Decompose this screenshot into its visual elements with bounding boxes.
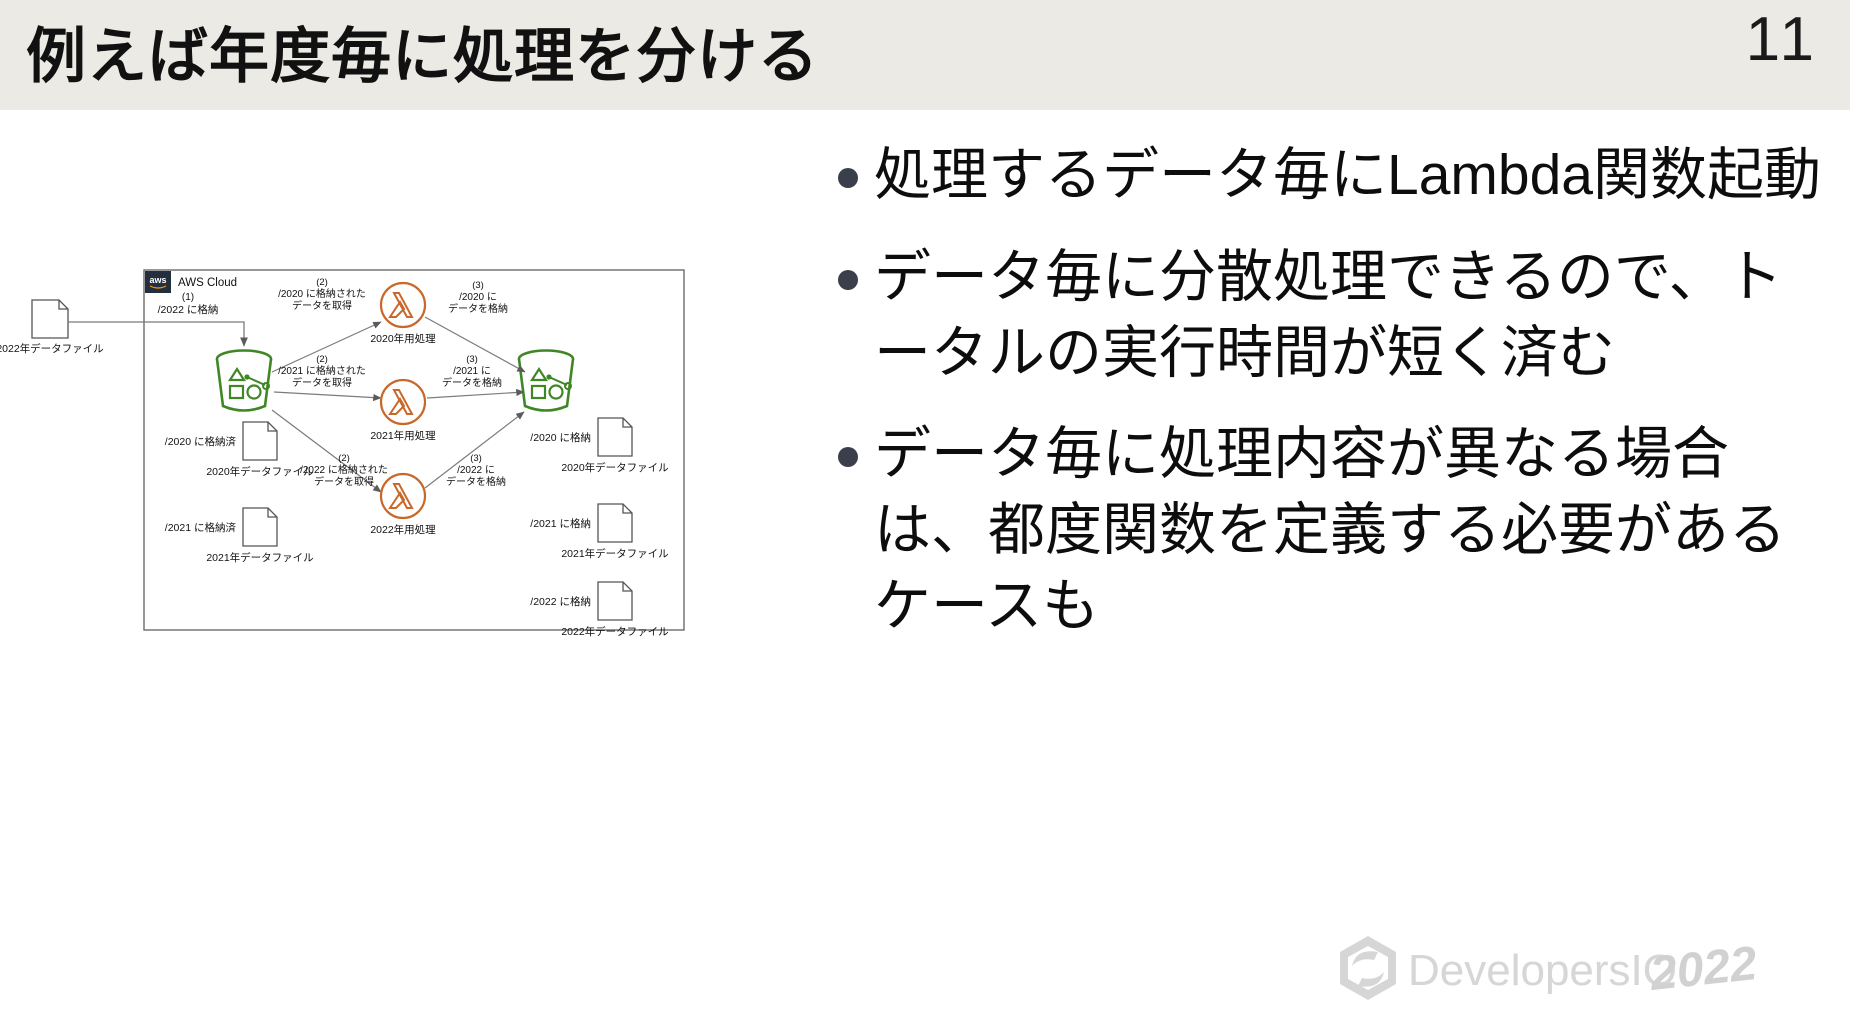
aws-logo-icon: aws xyxy=(149,275,166,285)
s3-destination-bucket-icon xyxy=(519,351,573,411)
lambda-2021-put-index: (3) xyxy=(466,354,478,365)
step1-index: (1) xyxy=(182,292,194,303)
slide-header: 例えば年度毎に処理を分ける 11 xyxy=(0,0,1850,110)
bullet-point-icon xyxy=(838,168,858,188)
developers-io-mark-icon xyxy=(1340,936,1396,1000)
bullet-point-icon xyxy=(838,447,858,467)
page-title: 例えば年度毎に処理を分ける xyxy=(26,8,819,95)
stored-file-2021-caption: 2021年データファイル xyxy=(206,551,313,564)
output-file-2021-path-label: /2021 に格納 xyxy=(530,517,591,530)
lambda-2022-put-line1: /2022 に xyxy=(457,464,495,476)
stored-file-2020-caption: 2020年データファイル xyxy=(206,465,313,478)
lambda-2021-get-line1: /2021 に格納された xyxy=(278,364,366,377)
bullet-text: データ毎に処理内容が異なる場合は、都度関数を定義する必要があるケースも xyxy=(874,417,1838,644)
lambda-2021-get-line2: データを取得 xyxy=(292,376,352,389)
developers-io-year: 2022 xyxy=(1647,937,1760,1001)
lambda-2020-get-index: (2) xyxy=(316,277,328,288)
stored-file-2021-icon xyxy=(243,508,277,546)
developers-io-logo: DevelopersIO 2022 xyxy=(1326,928,1826,1020)
architecture-diagram: aws AWS Cloud 2022年データファイル (1) /2022 に格納 xyxy=(0,110,830,1028)
lambda-2020-put-line1: /2020 に xyxy=(459,291,497,303)
list-item: データ毎に処理内容が異なる場合は、都度関数を定義する必要があるケースも xyxy=(838,417,1838,644)
list-item: 処理するデータ毎にLambda関数起動 xyxy=(838,138,1838,214)
step1-text: /2022 に格納 xyxy=(158,303,219,316)
arrow-lambda-2021-to-dest xyxy=(427,392,524,398)
output-file-2022-path-label: /2022 に格納 xyxy=(530,595,591,608)
lambda-2020-icon xyxy=(381,283,425,327)
lambda-2022-put-index: (3) xyxy=(470,453,482,464)
lambda-2022-get-line2: データを取得 xyxy=(314,475,374,488)
lambda-2020-label: 2020年用処理 xyxy=(370,332,436,345)
lambda-2020-get-line2: データを取得 xyxy=(292,299,352,312)
s3-source-bucket-icon xyxy=(217,351,271,411)
list-item: データ毎に分散処理できるので、トータルの実行時間が短く済む xyxy=(838,240,1838,392)
arrow-source-to-lambda-2021 xyxy=(274,392,381,398)
output-file-2020-caption: 2020年データファイル xyxy=(561,461,668,474)
stored-file-2020-icon xyxy=(243,422,277,460)
output-file-2020-icon xyxy=(598,418,632,456)
slide-body: aws AWS Cloud 2022年データファイル (1) /2022 に格納 xyxy=(0,110,1850,1028)
lambda-2022-label: 2022年用処理 xyxy=(370,523,436,536)
stored-file-2021-path-label: /2021 に格納済 xyxy=(165,521,237,534)
lambda-2022-icon xyxy=(381,474,425,518)
output-file-2022-caption: 2022年データファイル xyxy=(561,625,668,638)
page-number: 11 xyxy=(1746,4,1818,75)
lambda-2021-put-line1: /2021 に xyxy=(453,365,491,377)
bullet-text: データ毎に分散処理できるので、トータルの実行時間が短く済む xyxy=(874,240,1838,392)
lambda-2021-label: 2021年用処理 xyxy=(370,429,436,442)
bullet-text: 処理するデータ毎にLambda関数起動 xyxy=(874,138,1838,214)
lambda-2021-put-line2: データを格納 xyxy=(442,376,502,389)
bullet-point-icon xyxy=(838,270,858,290)
developers-io-wordmark: DevelopersIO xyxy=(1408,946,1677,995)
aws-cloud-label: AWS Cloud xyxy=(178,277,237,289)
output-file-2021-icon xyxy=(598,504,632,542)
lambda-2020-put-index: (3) xyxy=(472,280,484,291)
bullet-list: 処理するデータ毎にLambda関数起動 データ毎に分散処理できるので、トータルの… xyxy=(838,138,1838,998)
output-file-2022-icon xyxy=(598,582,632,620)
lambda-2021-get-index: (2) xyxy=(316,354,328,365)
lambda-2022-put-line2: データを格納 xyxy=(446,475,506,488)
lambda-2020-put-line2: データを格納 xyxy=(448,302,508,315)
output-file-2021-caption: 2021年データファイル xyxy=(561,547,668,560)
lambda-2020-get-line1: /2020 に格納された xyxy=(278,287,366,300)
lambda-2022-get-index: (2) xyxy=(338,453,350,464)
stored-file-2020-path-label: /2020 に格納済 xyxy=(165,435,237,448)
output-file-2020-path-label: /2020 に格納 xyxy=(530,431,591,444)
input-file-caption: 2022年データファイル xyxy=(0,342,104,355)
input-file-icon xyxy=(32,300,68,338)
lambda-2021-icon xyxy=(381,380,425,424)
